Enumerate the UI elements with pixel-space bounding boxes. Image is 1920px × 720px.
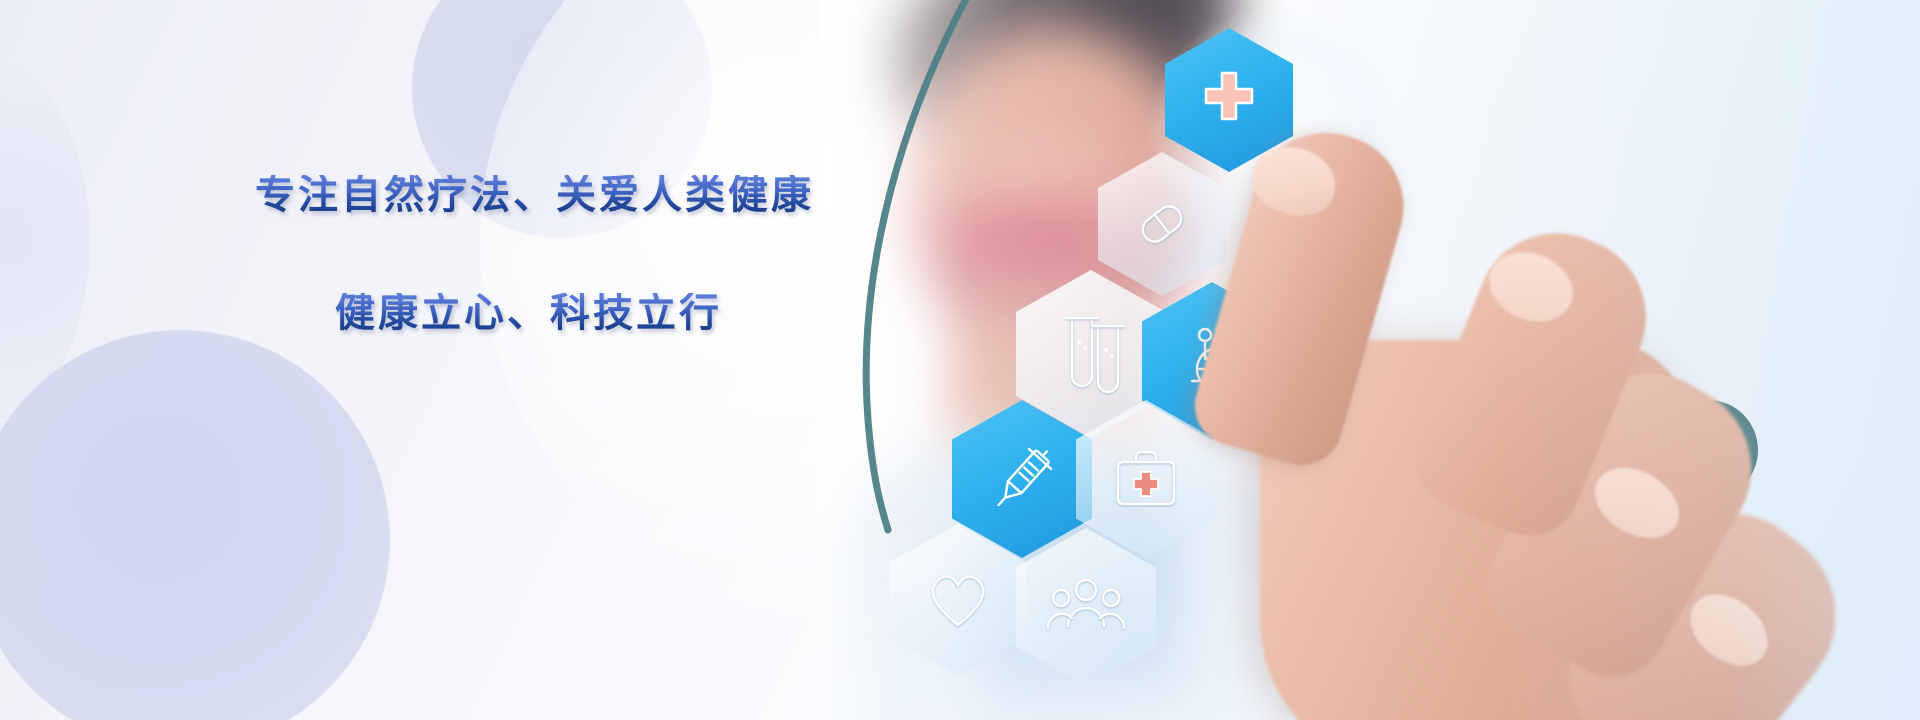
hero-banner: 专注自然疗法、关爱人类健康 健康立心、科技立行 bbox=[0, 0, 1920, 720]
family-group-icon bbox=[1046, 574, 1126, 640]
headline-line-2: 健康立心、科技立行 bbox=[335, 293, 875, 333]
pill-capsule-icon bbox=[1127, 189, 1197, 259]
decorative-blob-bottom-left bbox=[0, 330, 390, 720]
heart-care-icon bbox=[923, 567, 993, 633]
test-tubes-icon bbox=[1050, 308, 1132, 400]
headline-block: 专注自然疗法、关爱人类健康 健康立心、科技立行 bbox=[255, 175, 875, 333]
headline-line-1: 专注自然疗法、关爱人类健康 bbox=[255, 175, 875, 215]
hero-image bbox=[820, 0, 1920, 720]
first-aid-kit-icon bbox=[1108, 444, 1184, 514]
syringe-icon bbox=[983, 440, 1061, 518]
pointing-hand bbox=[1200, 40, 1860, 720]
